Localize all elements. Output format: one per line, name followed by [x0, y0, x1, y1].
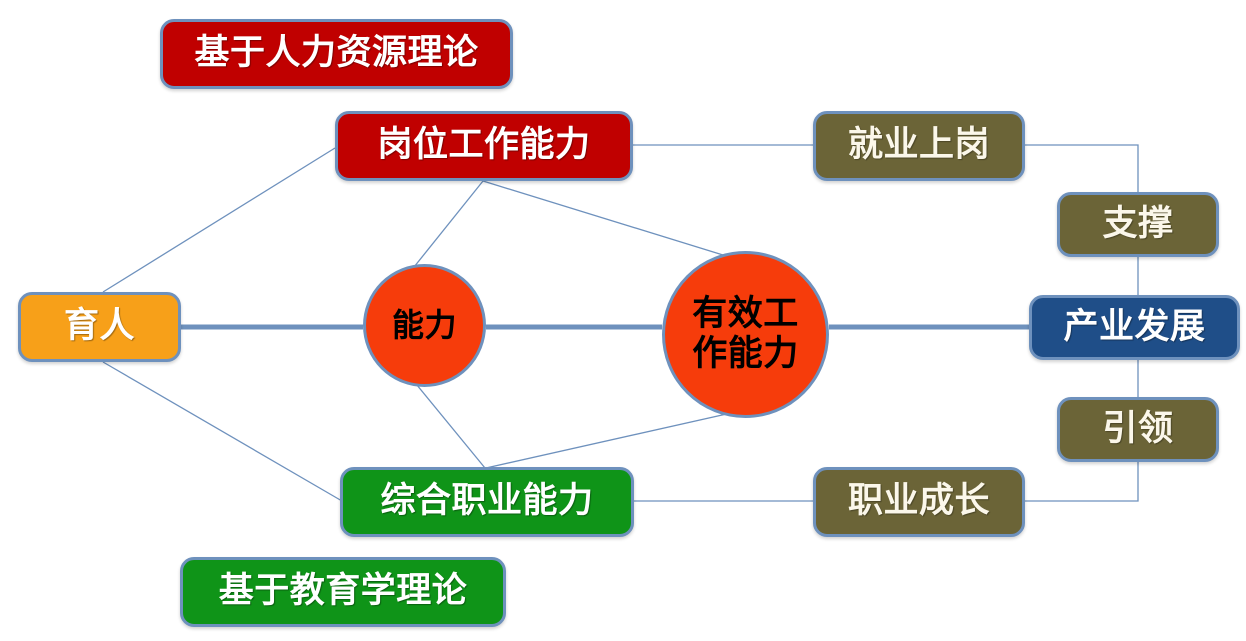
node-employment[interactable]: 就业上岗	[813, 111, 1025, 181]
edge-ability-to-comp	[412, 379, 485, 468]
node-label-cultivate-people: 育人	[64, 307, 135, 346]
node-ability[interactable]: 能力	[363, 264, 486, 387]
node-label-ability: 能力	[392, 308, 457, 344]
edge-cultivate-to-job	[103, 148, 335, 292]
node-theory-hr[interactable]: 基于人力资源理论	[160, 19, 513, 89]
node-label-employment: 就业上岗	[848, 126, 990, 165]
node-job-work-ability[interactable]: 岗位工作能力	[335, 111, 633, 181]
node-label-lead: 引领	[1102, 410, 1173, 449]
edge-cultivate-to-comp	[103, 362, 342, 501]
node-effective-work-ability[interactable]: 有效工 作能力	[662, 251, 829, 418]
edge-job-to-ability	[410, 181, 483, 272]
node-label-effective-work-ability: 有效工 作能力	[692, 295, 799, 373]
edge-employment-to-spine	[1025, 145, 1138, 192]
node-theory-education[interactable]: 基于教育学理论	[180, 557, 506, 627]
edge-lead-to-career	[1025, 462, 1138, 501]
node-label-industry-development: 产业发展	[1063, 308, 1205, 347]
diagram-canvas: 基于人力资源理论岗位工作能力就业上岗支撑育人能力有效工 作能力产业发展引领综合职…	[0, 0, 1246, 641]
node-label-support: 支撑	[1102, 205, 1173, 244]
edge-effective-to-comp	[486, 411, 740, 468]
node-comprehensive-vocational-ability[interactable]: 综合职业能力	[340, 467, 634, 537]
node-industry-development[interactable]: 产业发展	[1029, 295, 1240, 360]
edge-job-to-effective	[483, 181, 723, 255]
node-career-growth[interactable]: 职业成长	[813, 467, 1025, 537]
node-cultivate-people[interactable]: 育人	[18, 292, 181, 362]
node-label-job-work-ability: 岗位工作能力	[377, 126, 590, 165]
node-label-career-growth: 职业成长	[848, 482, 990, 521]
node-label-theory-education: 基于教育学理论	[219, 572, 468, 611]
node-lead[interactable]: 引领	[1057, 397, 1219, 462]
node-label-comprehensive-vocational-ability: 综合职业能力	[380, 482, 593, 521]
node-support[interactable]: 支撑	[1057, 192, 1219, 257]
node-label-theory-hr: 基于人力资源理论	[194, 34, 478, 73]
